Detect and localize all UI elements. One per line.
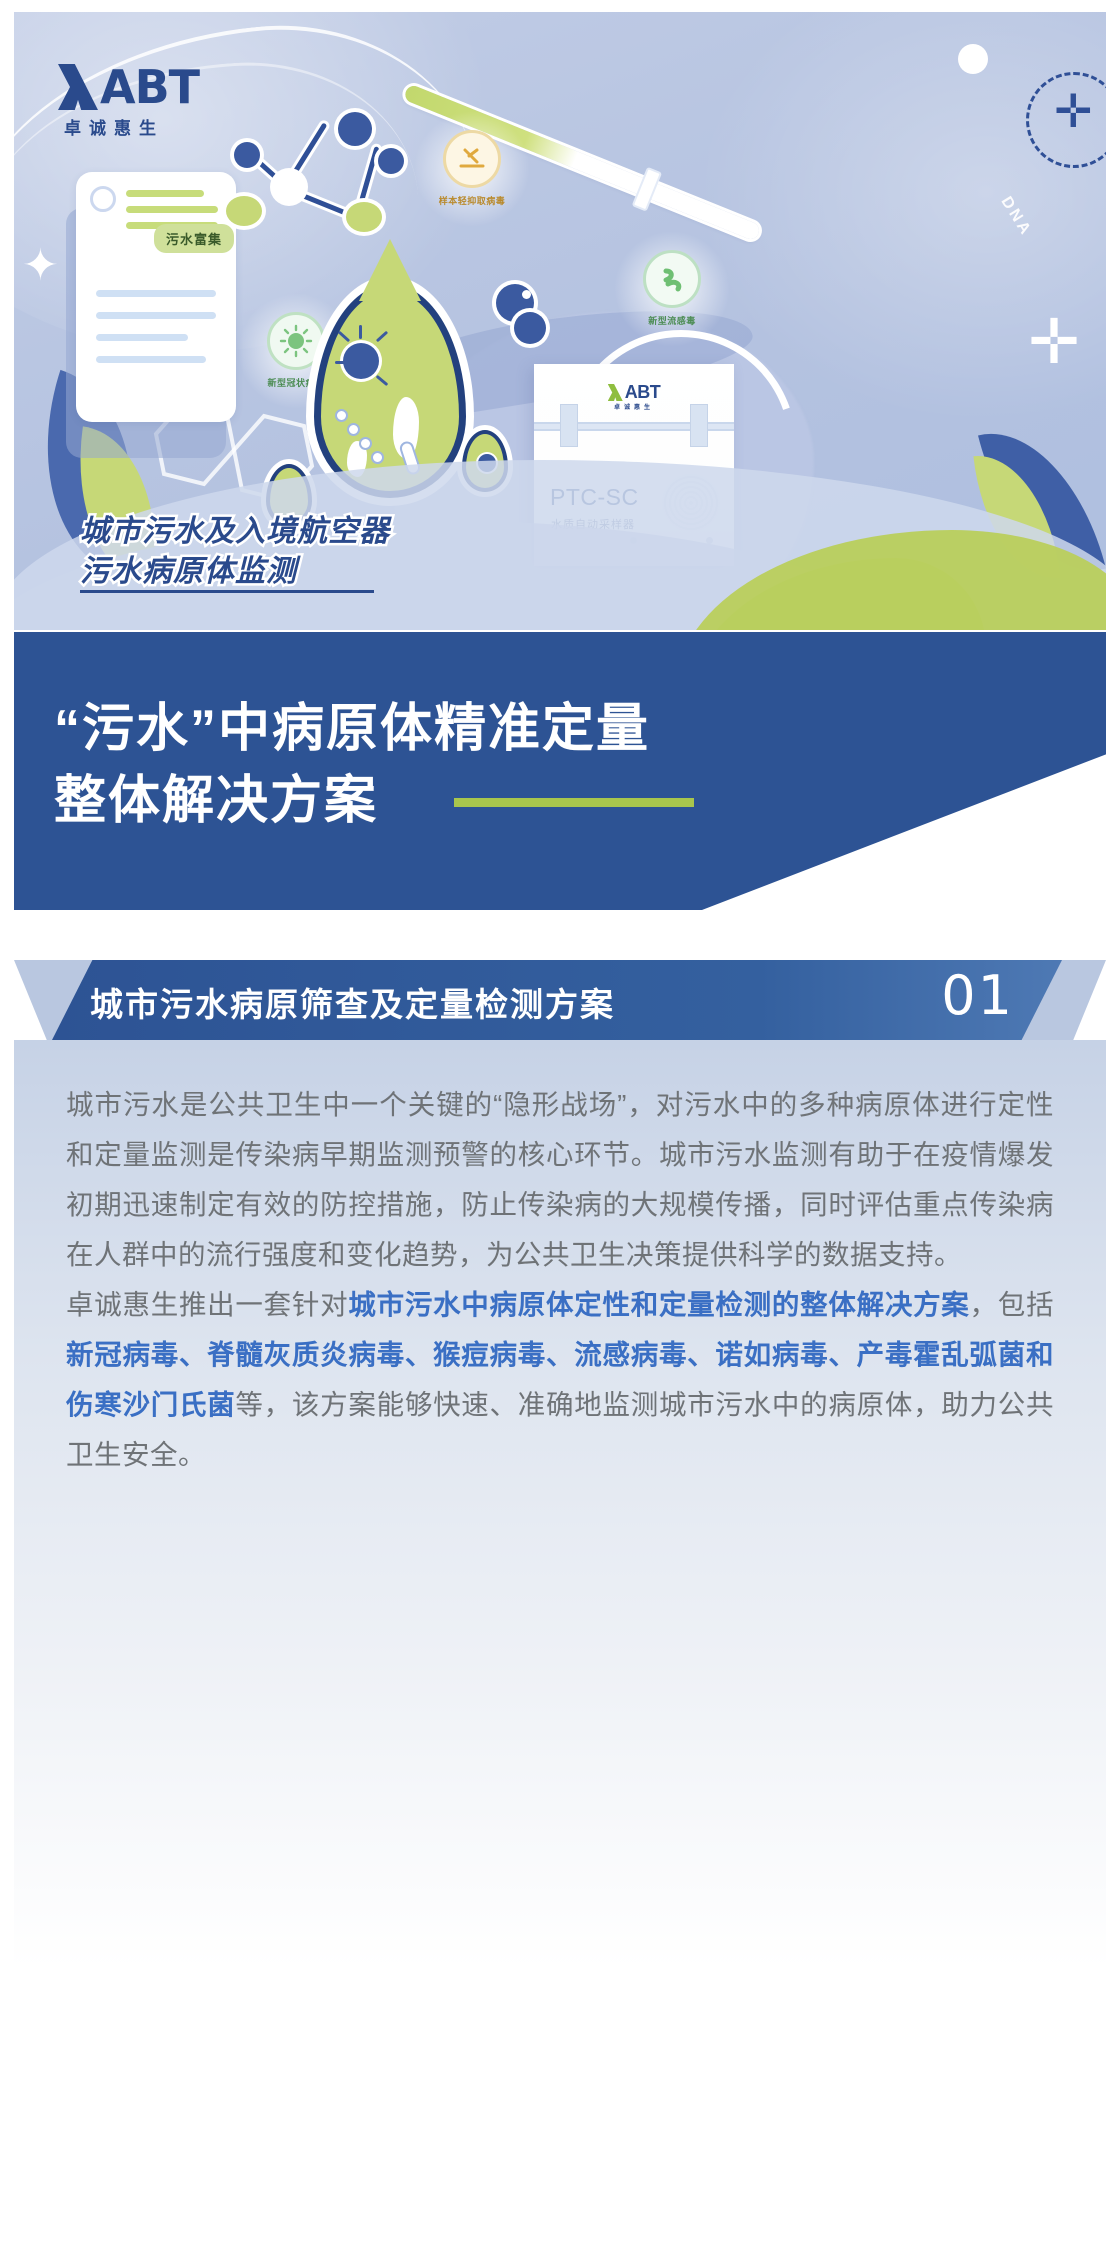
banner-underline-accent — [454, 798, 694, 807]
body-p2-part1: 卓诚惠生推出一套针对 — [66, 1289, 348, 1320]
x-mark-icon-small — [608, 384, 623, 401]
germ-spike — [376, 331, 388, 343]
rna-strand-icon — [443, 130, 501, 188]
molecule-node-center — [274, 172, 304, 202]
device-logo-text: ABT — [625, 382, 661, 403]
doc-line-green-1 — [126, 190, 204, 197]
x-mark-icon — [58, 64, 98, 110]
sparkle-icon: ✦ — [22, 244, 59, 288]
doc-line-blue-2 — [96, 312, 216, 319]
body-paragraph-2: 卓诚惠生推出一套针对城市污水中病原体定性和定量检测的整体解决方案，包括新冠病毒、… — [66, 1280, 1054, 1480]
chain-dot — [335, 409, 348, 422]
section-header-number: 01 — [941, 964, 1014, 1027]
chain-dot — [371, 451, 384, 464]
molecule-node-right-green — [346, 202, 382, 232]
doc-line-blue-4 — [96, 356, 206, 363]
chain-dot — [359, 437, 372, 450]
badge-respiratory-label: 样本轻抑取病毒 — [412, 194, 532, 207]
poster-page: ✛ ✛ ✦ DNA ABT 卓诚惠生 — [0, 0, 1120, 2242]
main-banner: “污水”中病原体精准定量 整体解决方案 — [14, 632, 1106, 910]
doc-line-blue-3 — [96, 334, 188, 341]
germ-spike — [376, 375, 389, 386]
avatar-circle-icon — [90, 186, 116, 212]
brand-logo-text: ABT — [100, 65, 199, 109]
doc-line-green-2 — [126, 206, 218, 213]
hero-illustration: ✛ ✛ ✦ DNA ABT 卓诚惠生 — [14, 12, 1106, 630]
bacteria-blob-2 — [514, 312, 546, 344]
badge-influenza: 新型流感毒 — [612, 250, 732, 327]
badge-respiratory: 样本轻抑取病毒 — [412, 130, 532, 207]
section-header-title: 城市污水病原筛查及定量检测方案 — [90, 978, 615, 1026]
body-content: 城市污水是公共卫生中一个关键的“隐形战场”，对污水中的多种病原体进行定性和定量监… — [14, 1040, 1106, 2230]
molecule-node-left-green — [226, 196, 262, 226]
coronavirus-icon — [267, 312, 325, 370]
body-p2-part2: ，包括 — [970, 1289, 1054, 1320]
section-header: 城市污水病原筛查及定量检测方案 01 — [14, 960, 1106, 1040]
chain-dot — [347, 423, 360, 436]
molecule-node-upper-left — [234, 142, 260, 168]
badge-influenza-label: 新型流感毒 — [612, 314, 732, 327]
molecule-bond-4 — [358, 146, 380, 207]
body-paragraph-1: 城市污水是公共卫生中一个关键的“隐形战场”，对污水中的多种病原体进行定性和定量监… — [66, 1080, 1054, 1280]
brand-logo: ABT 卓诚惠生 — [58, 64, 238, 139]
germ-spike — [335, 361, 349, 364]
body-p2-highlight-1: 城市污水中病原体定性和定量检测的整体解决方案 — [348, 1289, 969, 1320]
device-handle-left — [560, 404, 578, 447]
tag-pill-enrichment: 污水富集 — [154, 224, 234, 253]
bacteria-icon — [643, 250, 701, 308]
document-card-icon — [76, 172, 236, 422]
molecule-node-upper-right — [378, 148, 404, 174]
bacteria-highlight — [522, 290, 531, 299]
device-handle-right — [690, 404, 708, 447]
germ-spike — [359, 325, 362, 339]
doc-line-blue-1 — [96, 290, 216, 297]
device-logo: ABT — [534, 382, 734, 403]
germ-spike — [338, 331, 350, 343]
brand-logo-cn: 卓诚惠生 — [58, 114, 238, 139]
white-dot-decor — [958, 44, 988, 74]
molecule-node-top — [338, 112, 372, 146]
hero-title-line-1: 城市污水及入境航空器 — [80, 512, 390, 552]
hero-title-rule — [80, 590, 374, 593]
plus-icon-blue: ✛ — [1054, 88, 1093, 134]
plus-icon-white: ✛ — [1028, 312, 1080, 374]
main-banner-text: “污水”中病原体精准定量 整体解决方案 — [54, 694, 650, 838]
banner-line-1: “污水”中病原体精准定量 — [54, 694, 650, 766]
hero-title: 城市污水及入境航空器 污水病原体监测 — [80, 512, 390, 591]
hero-title-line-2: 污水病原体监测 — [80, 552, 390, 592]
